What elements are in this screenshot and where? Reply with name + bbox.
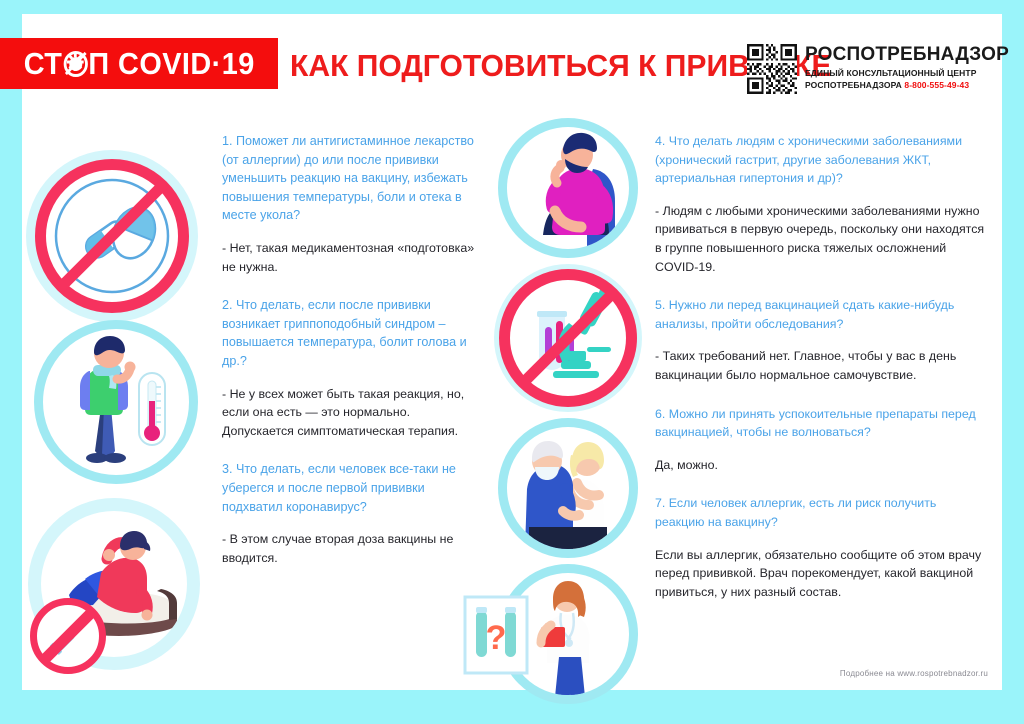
female-doctor-test-tubes-icon: ?: [498, 564, 638, 704]
question-1: 1. Поможет ли антигистаминное лекарство …: [222, 132, 484, 225]
no-syringe-badge: [30, 598, 106, 674]
virus-icon: [63, 51, 87, 77]
sick-man-thermometer-icon: [34, 320, 198, 484]
footer-note: Подробнее на www.rospotrebnadzor.ru: [840, 669, 988, 678]
person-in-bed-no-syringe-icon: [28, 498, 200, 670]
prohibition-sign: [35, 159, 189, 313]
question-2: 2. Что делать, если после прививки возни…: [222, 296, 484, 370]
answer-3: - В этом случае вторая доза вакцины не в…: [222, 530, 484, 567]
man-stomach-pain-icon: [498, 118, 638, 258]
middle-illustration-column: ?: [498, 118, 648, 704]
logo-text-before: СТ: [23, 46, 62, 82]
elderly-couple-icon: [498, 418, 638, 558]
no-microscope-tests-icon: [494, 264, 642, 412]
qr-code-icon: [747, 44, 797, 94]
answer-7: Если вы аллергик, обязательно сообщите о…: [655, 546, 985, 602]
page-title: КАК ПОДГОТОВИТЬСЯ К ПРИВИВКЕ: [290, 49, 727, 83]
prohibition-sign: [499, 269, 637, 407]
answer-4: - Людям с любыми хроническими заболевани…: [655, 202, 985, 276]
answer-1: - Нет, такая медикаментозная «подготовка…: [222, 239, 484, 276]
right-text-column: 4. Что делать людям с хроническими забол…: [655, 132, 985, 621]
question-5: 5. Нужно ли перед вакцинацией сдать каки…: [655, 296, 985, 333]
question-4: 4. Что делать людям с хроническими забол…: [655, 132, 985, 188]
no-pills-icon: [26, 150, 198, 322]
org-subtitle-line2: РОСПОТРЕБНАДЗОРА: [805, 80, 902, 90]
question-7: 7. Если человек аллергик, есть ли риск п…: [655, 494, 985, 531]
org-subtitle-line1: ЕДИНЫЙ КОНСУЛЬТАЦИОННЫЙ ЦЕНТР: [805, 68, 1009, 80]
logo-text: СТ П COVID·19: [23, 46, 254, 82]
answer-5: - Таких требований нет. Главное, чтобы у…: [655, 347, 985, 384]
answer-6: Да, можно.: [655, 456, 985, 475]
svg-text:?: ?: [486, 619, 507, 657]
question-6: 6. Можно ли принять успокоительные препа…: [655, 405, 985, 442]
question-3: 3. Что делать, если человек все-таки не …: [222, 460, 484, 516]
answer-2: - Не у всех может быть такая реакция, но…: [222, 385, 484, 441]
logo-text-after: П COVID·19: [88, 46, 254, 82]
prohibition-sign-small: [30, 598, 106, 674]
rospotrebnadzor-block: РОСПОТРЕБНАДЗОР ЕДИНЫЙ КОНСУЛЬТАЦИОННЫЙ …: [747, 44, 1009, 94]
poster-root: СТ П COVID·19 КАК ПОДГОТОВИТЬСЯ К ПРИВИВ…: [0, 0, 1024, 724]
stop-covid-logo: СТ П COVID·19: [0, 38, 278, 89]
left-text-column: 1. Поможет ли антигистаминное лекарство …: [222, 132, 484, 587]
hotline-phone: 8-800-555-49-43: [904, 80, 969, 90]
org-name: РОСПОТРЕБНАДЗОР: [805, 45, 1009, 65]
left-illustration-column: [26, 150, 216, 670]
